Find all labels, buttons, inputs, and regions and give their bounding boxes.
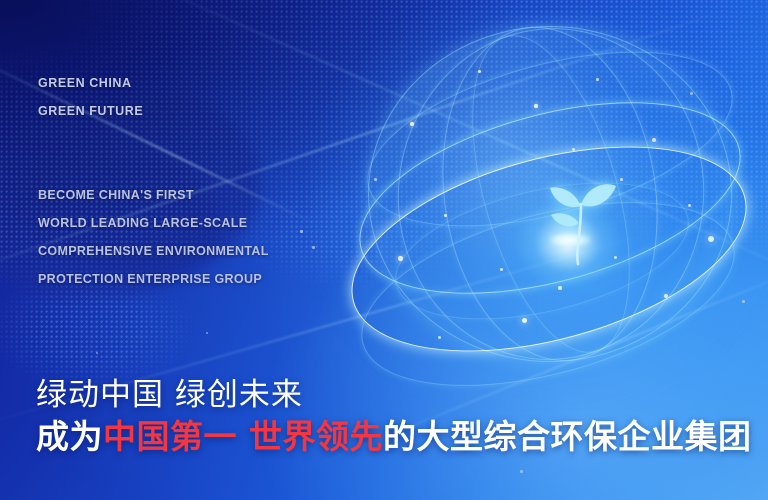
eyebrow-line-1: GREEN CHINA [38, 76, 132, 90]
green-sprout-icon [528, 160, 636, 268]
headline-line-1: 绿动中国 绿创未来 [36, 369, 303, 414]
headline-prefix: 成为 [36, 417, 103, 456]
headline-highlight: 中国第一 世界领先 [103, 417, 383, 456]
claim-line-2: WORLD LEADING LARGE-SCALE [38, 216, 247, 230]
eyebrow-line-2: GREEN FUTURE [38, 104, 143, 118]
headline-suffix: 的大型综合环保企业集团 [383, 417, 752, 456]
claim-line-3: COMPREHENSIVE ENVIRONMENTAL [38, 244, 269, 258]
headline-line-2: 成为中国第一 世界领先的大型综合环保企业集团 [36, 410, 752, 458]
claim-line-1: BECOME CHINA'S FIRST [38, 188, 194, 202]
globe-graphic [352, 18, 748, 370]
hero-banner: GREEN CHINA GREEN FUTURE BECOME CHINA'S … [0, 0, 768, 500]
claim-line-4: PROTECTION ENTERPRISE GROUP [38, 272, 262, 286]
